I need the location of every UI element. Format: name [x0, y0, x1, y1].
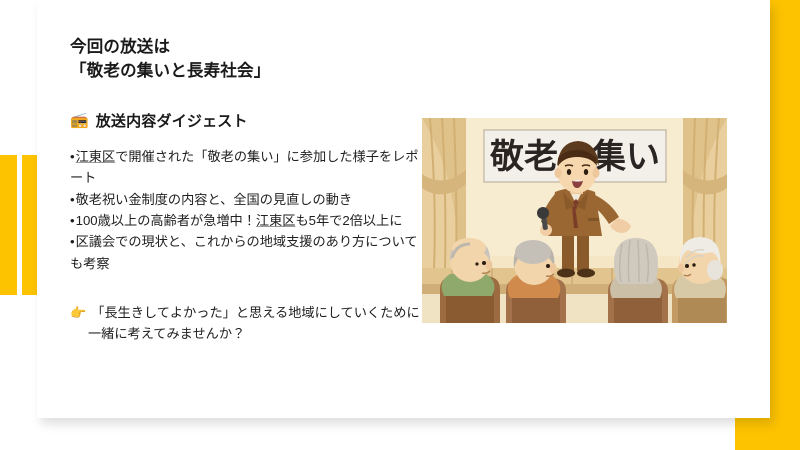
closing-line-1: 「長生きしてよかった」と思える地域にしていくために	[91, 305, 420, 320]
list-item: 100歳以上の高齢者が急増中！江東区も5年で2倍以上に	[70, 210, 420, 231]
text-column: 今回の放送は 「敬老の集いと長寿社会」 📻 放送内容ダイジェスト 江東区で開催さ…	[70, 36, 420, 345]
closing-line-2: 一緒に考えてみませんか？	[70, 323, 420, 344]
list-item: 敬老祝い金制度の内容と、全国の見直しの動き	[70, 189, 420, 210]
subhead-label: 放送内容ダイジェスト	[96, 110, 248, 131]
subhead-row: 📻 放送内容ダイジェスト	[70, 110, 420, 131]
list-item: 江東区で開催された「敬老の集い」に参加した様子をレポート	[70, 146, 420, 189]
list-item: 区議会での現状と、これからの地域支援のあり方についても考察	[70, 231, 420, 274]
radio-icon: 📻	[70, 113, 89, 128]
slide-canvas: 今回の放送は 「敬老の集いと長寿社会」 📻 放送内容ダイジェスト 江東区で開催さ…	[0, 0, 800, 450]
page-title: 今回の放送は 「敬老の集いと長寿社会」	[70, 36, 420, 84]
spellcheck-term: 江東区	[256, 213, 296, 228]
accent-bar-left-outer	[0, 155, 17, 295]
list-item-text: 100歳以上の高齢者が急増中！	[76, 213, 256, 228]
closing-message: 👉「長生きしてよかった」と思える地域にしていくために 一緒に考えてみませんか？	[70, 302, 420, 345]
pointing-hand-icon: 👉	[70, 305, 86, 320]
list-item-text: で開催された「敬老の集い」に参加した様子をレポート	[70, 149, 419, 185]
keiro-no-tsudoi-illustration: 敬老の集い	[422, 118, 727, 323]
list-item-text: も5年で2倍以上に	[295, 213, 402, 228]
bullet-list: 江東区で開催された「敬老の集い」に参加した様子をレポート 敬老祝い金制度の内容と…	[70, 146, 420, 274]
content-card-inner: 今回の放送は 「敬老の集いと長寿社会」 📻 放送内容ダイジェスト 江東区で開催さ…	[37, 0, 770, 418]
accent-bar-left-inner	[22, 155, 37, 295]
content-card: 今回の放送は 「敬老の集いと長寿社会」 📻 放送内容ダイジェスト 江東区で開催さ…	[37, 0, 770, 418]
spellcheck-term: 江東区	[76, 149, 116, 164]
